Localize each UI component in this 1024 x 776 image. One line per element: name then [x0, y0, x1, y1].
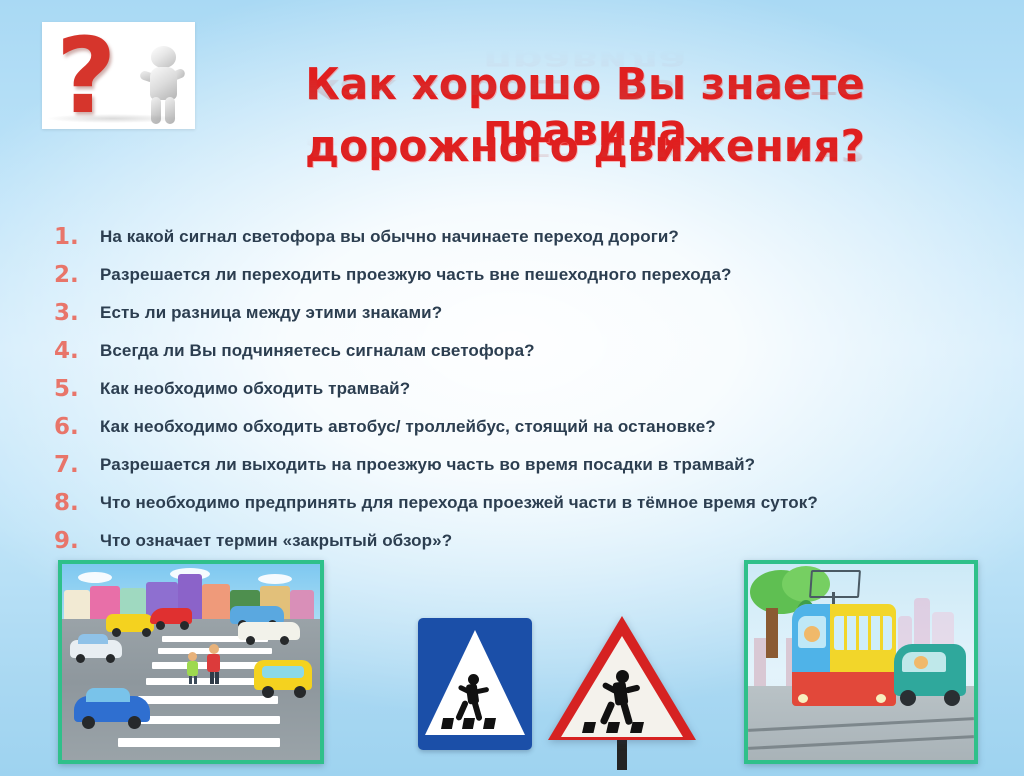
tram-scene-content — [748, 564, 974, 760]
bus-windows — [262, 666, 304, 678]
list-item: 8. Что необходимо предпринять для перехо… — [48, 488, 988, 518]
wheel — [82, 716, 95, 729]
tree-trunk — [766, 608, 778, 658]
question-number: 5. — [48, 374, 100, 404]
cloud — [258, 574, 292, 584]
list-item: 7. Разрешается ли выходить на проезжую ч… — [48, 450, 988, 480]
crosswalk-stripe — [441, 718, 454, 729]
wheel — [900, 690, 916, 706]
question-number: 2. — [48, 260, 100, 290]
wheel — [156, 621, 165, 630]
question-number: 4. — [48, 336, 100, 366]
wheel — [128, 716, 141, 729]
slide-canvas: ? Как хорошо Вы знаете правила Как хорош… — [0, 0, 1024, 776]
crosswalk-stripe — [483, 718, 496, 729]
question-number: 7. — [48, 450, 100, 480]
list-item: 2. Разрешается ли переходить проезжую ча… — [48, 260, 988, 290]
question-text: На какой сигнал светофора вы обычно начи… — [100, 222, 988, 252]
wheel — [106, 654, 115, 663]
question-text: Что означает термин «закрытый обзор»? — [100, 526, 988, 556]
building — [64, 590, 90, 622]
child-boy — [206, 644, 220, 684]
list-item: 6. Как необходимо обходить автобус/ трол… — [48, 412, 988, 442]
pantograph — [809, 570, 861, 598]
title-line-1: Как хорошо Вы знаете правила Как хорошо … — [190, 62, 980, 118]
zebra-stripe — [128, 716, 280, 724]
question-text: Есть ли разница между этими знаками? — [100, 298, 988, 328]
list-item: 3. Есть ли разница между этими знаками? — [48, 298, 988, 328]
window-mullion — [868, 616, 871, 650]
wheel — [246, 636, 255, 645]
window-mullion — [880, 616, 883, 650]
question-text: Как необходимо обходить трамвай? — [100, 374, 988, 404]
question-text: Как необходимо обходить автобус/ троллей… — [100, 412, 988, 442]
question-list: 1. На какой сигнал светофора вы обычно н… — [48, 222, 988, 564]
question-number: 3. — [48, 298, 100, 328]
window-mullion — [844, 616, 847, 650]
wheel — [180, 621, 189, 630]
question-number: 9. — [48, 526, 100, 556]
street-scene-image — [58, 560, 324, 764]
building — [202, 584, 230, 622]
fence-post — [754, 638, 766, 690]
list-item: 4. Всегда ли Вы подчиняетесь сигналам св… — [48, 336, 988, 366]
pedestrian-crossing-warning-sign-red — [548, 612, 696, 770]
title-line-2-text: дорожного движения? — [206, 124, 964, 170]
building — [290, 590, 314, 622]
title-line-2: дорожного движения? дорожного движения? — [190, 124, 980, 180]
tram-headlight — [798, 694, 808, 703]
wheel — [944, 690, 960, 706]
question-number: 8. — [48, 488, 100, 518]
tram-side-windows — [834, 616, 892, 650]
question-number: 6. — [48, 412, 100, 442]
cloud — [78, 572, 112, 583]
question-text: Что необходимо предпринять для перехода … — [100, 488, 976, 518]
list-item: 9. Что означает термин «закрытый обзор»? — [48, 526, 988, 556]
question-mark-glyph: ? — [56, 30, 148, 122]
car-passenger — [914, 656, 928, 669]
list-item: 1. На какой сигнал светофора вы обычно н… — [48, 222, 988, 252]
pedestrian-crossing-sign-blue — [418, 618, 532, 750]
wheel — [262, 686, 274, 698]
tram-driver — [804, 626, 820, 642]
figure-body — [150, 67, 177, 100]
wheel — [294, 686, 306, 698]
question-text: Разрешается ли переходить проезжую часть… — [100, 260, 988, 290]
thinking-figure-icon — [138, 46, 190, 124]
question-text: Разрешается ли выходить на проезжую част… — [100, 450, 988, 480]
zebra-stripe — [138, 696, 278, 704]
page-title: Как хорошо Вы знаете правила Как хорошо … — [190, 62, 980, 180]
street-scene-content — [62, 564, 320, 760]
zebra-stripe — [118, 738, 280, 747]
question-mark-image: ? — [42, 22, 195, 129]
wheel — [76, 654, 85, 663]
figure-head — [151, 46, 176, 68]
tram-scene-image — [744, 560, 978, 764]
list-item: 5. Как необходимо обходить трамвай? — [48, 374, 988, 404]
window-mullion — [856, 616, 859, 650]
wheel — [280, 636, 289, 645]
question-number: 1. — [48, 222, 100, 252]
figure-ground-shadow — [48, 114, 178, 123]
child-girl — [186, 652, 198, 684]
tram-headlight — [876, 694, 886, 703]
car-windows — [86, 688, 130, 702]
crosswalk-stripe — [462, 718, 475, 729]
wheel — [112, 628, 121, 637]
wheel — [142, 628, 151, 637]
car-windows — [78, 634, 108, 644]
question-text: Всегда ли Вы подчиняетесь сигналам свето… — [100, 336, 988, 366]
